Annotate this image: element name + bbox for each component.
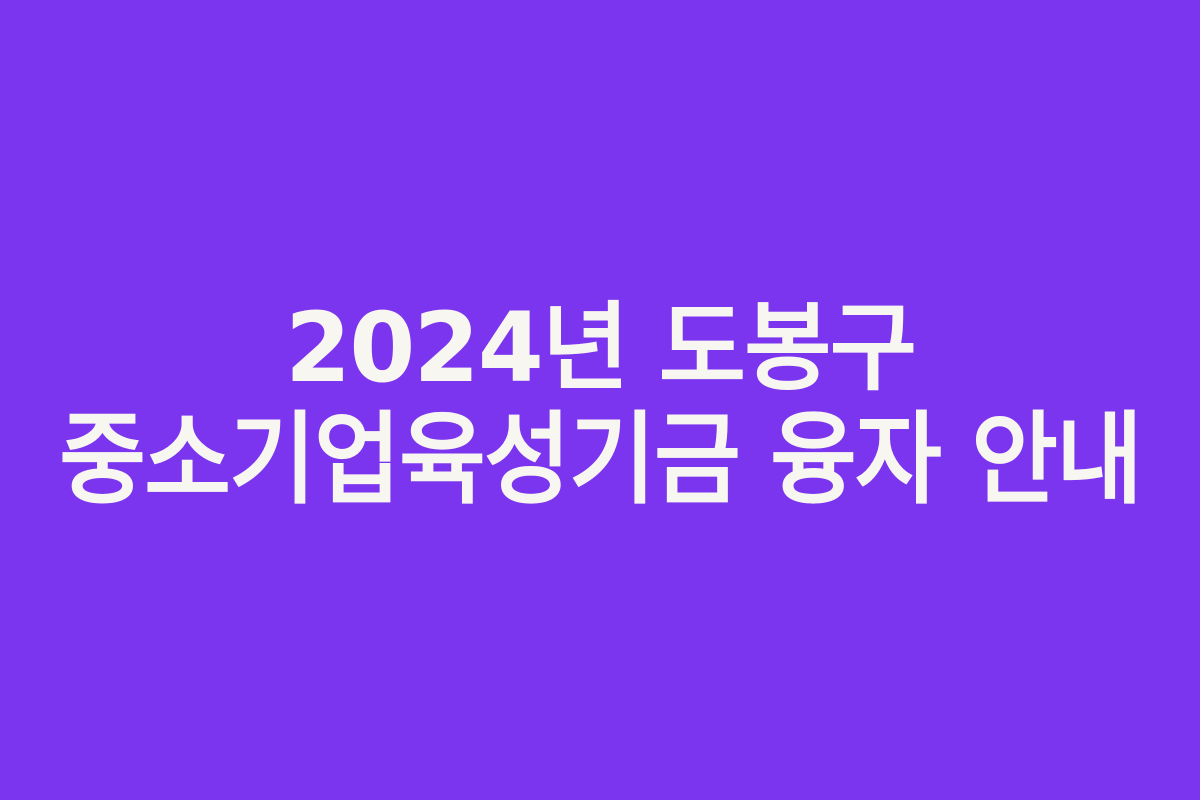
banner-title-line-1: 2024년 도봉구: [285, 296, 915, 400]
banner-title-block: 2024년 도봉구 중소기업육성기금 융자 안내: [0, 296, 1200, 514]
promo-banner: 2024년 도봉구 중소기업육성기금 융자 안내: [0, 0, 1200, 800]
banner-title-line-2: 중소기업육성기금 융자 안내: [59, 406, 1141, 514]
